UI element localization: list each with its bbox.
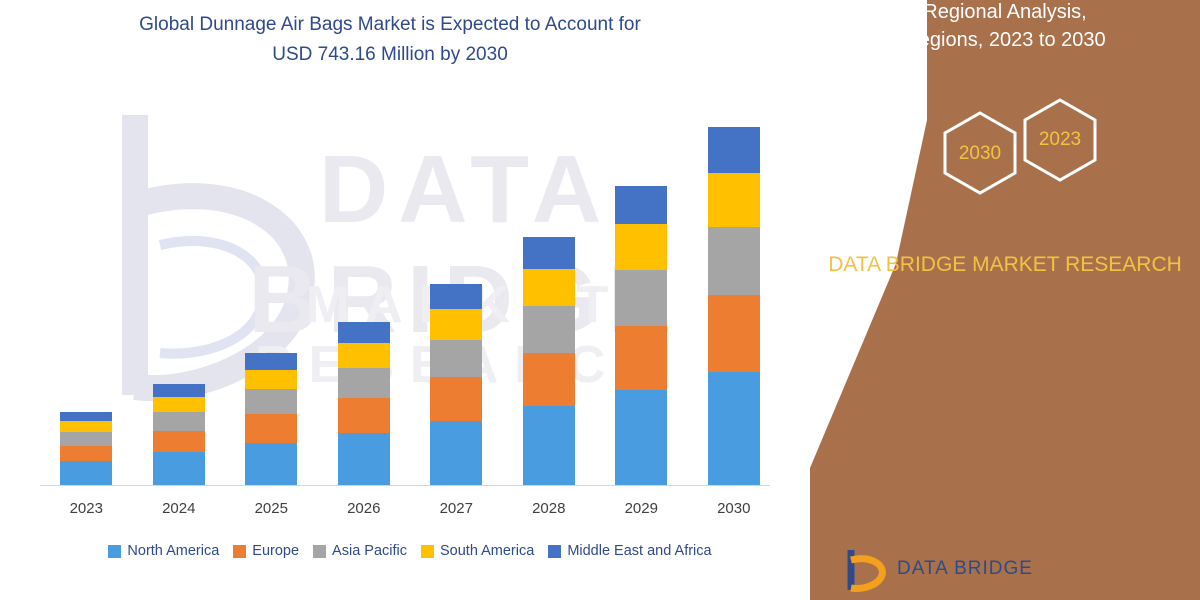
bar-segment (245, 353, 297, 370)
legend-swatch-icon (548, 545, 561, 558)
bar-segment (245, 443, 297, 485)
bar-segment (430, 377, 482, 420)
bar-segment (245, 414, 297, 443)
x-axis-tick-label: 2027 (411, 500, 501, 517)
legend-item[interactable]: Middle East and Africa (548, 543, 711, 559)
bar-segment (615, 326, 667, 390)
hexagon-group: 2030 2023 (920, 95, 1160, 225)
legend-label: South America (440, 543, 534, 559)
legend-label: Europe (252, 543, 299, 559)
bar-segment (615, 186, 667, 224)
chart-title: Global Dunnage Air Bags Market is Expect… (40, 10, 740, 70)
panel-brand: DATA BRIDGE MARKET RESEARCH (810, 250, 1200, 279)
bar-segment (708, 372, 760, 485)
legend: North AmericaEuropeAsia PacificSouth Ame… (40, 538, 780, 564)
plot-area (40, 110, 780, 485)
bar-segment (430, 284, 482, 310)
bar-segment (153, 452, 205, 485)
bar-segment (153, 384, 205, 397)
bar-segment (338, 343, 390, 368)
bar-segment (60, 412, 112, 421)
bar-segment (245, 370, 297, 390)
bar-group (615, 186, 667, 485)
logo-text: DATA BRIDGE (897, 558, 1033, 580)
bar-segment (615, 390, 667, 485)
panel-brand-line1: DATA BRIDGE MARKET (828, 253, 1059, 276)
regional-panel: Regional Analysis, Regions, 2023 to 2030… (810, 0, 1200, 600)
x-axis-tick-label: 2030 (689, 500, 779, 517)
bar-segment (523, 353, 575, 406)
dbmr-logo: DATA BRIDGE (845, 544, 1045, 594)
bar-group (523, 237, 575, 485)
bar-segment (60, 461, 112, 485)
chart-title-line1: Global Dunnage Air Bags Market is Expect… (40, 10, 740, 40)
bar-segment (338, 368, 390, 399)
hex-label-2030: 2030 (942, 143, 1018, 165)
bar-segment (338, 398, 390, 433)
x-axis-tick-label: 2028 (504, 500, 594, 517)
logo-icon (845, 546, 889, 592)
bar-group (153, 384, 205, 485)
legend-item[interactable]: Asia Pacific (313, 543, 407, 559)
bar-segment (153, 431, 205, 453)
bar-segment (523, 237, 575, 269)
legend-label: North America (127, 543, 219, 559)
bar-segment (430, 421, 482, 485)
bar-segment (708, 227, 760, 294)
panel-title-line1: Regional Analysis, (810, 0, 1200, 26)
legend-item[interactable]: South America (421, 543, 534, 559)
bar-segment (523, 306, 575, 352)
panel-title: Regional Analysis, Regions, 2023 to 2030 (810, 0, 1200, 54)
legend-label: Middle East and Africa (567, 543, 711, 559)
x-axis-tick-label: 2025 (226, 500, 316, 517)
bar-segment (60, 432, 112, 446)
legend-swatch-icon (313, 545, 326, 558)
bar-segment (708, 173, 760, 227)
chart-title-line2: USD 743.16 Million by 2030 (40, 40, 740, 70)
bar-segment (153, 412, 205, 431)
bar-group (60, 412, 112, 485)
legend-swatch-icon (233, 545, 246, 558)
bar-group (338, 322, 390, 485)
x-axis-tick-label: 2029 (596, 500, 686, 517)
panel-background (810, 0, 1200, 600)
bar-segment (245, 389, 297, 414)
bar-segment (523, 269, 575, 307)
x-axis-tick-label: 2026 (319, 500, 409, 517)
panel-title-line2: Regions, 2023 to 2030 (810, 26, 1200, 54)
legend-item[interactable]: North America (108, 543, 219, 559)
bar-group (430, 284, 482, 485)
legend-item[interactable]: Europe (233, 543, 299, 559)
legend-label: Asia Pacific (332, 543, 407, 559)
chart: Global Dunnage Air Bags Market is Expect… (0, 0, 830, 600)
hex-label-2023: 2023 (1022, 129, 1098, 151)
x-axis-tick-label: 2023 (41, 500, 131, 517)
legend-swatch-icon (108, 545, 121, 558)
legend-swatch-icon (421, 545, 434, 558)
panel-brand-line2: RESEARCH (1065, 253, 1182, 276)
bar-group (708, 127, 760, 485)
bar-segment (708, 295, 760, 372)
bar-segment (60, 421, 112, 432)
bar-segment (338, 433, 390, 485)
bar-group (245, 353, 297, 485)
bar-segment (153, 397, 205, 412)
x-axis-line (40, 485, 770, 486)
x-axis-labels: 20232024202520262027202820292030 (40, 494, 780, 524)
bar-segment (523, 406, 575, 485)
bar-segment (338, 322, 390, 343)
bar-segment (60, 446, 112, 462)
bar-segment (615, 224, 667, 269)
bar-segment (708, 127, 760, 173)
bar-segment (430, 309, 482, 340)
bar-segment (430, 340, 482, 378)
x-axis-tick-label: 2024 (134, 500, 224, 517)
bar-segment (615, 270, 667, 326)
